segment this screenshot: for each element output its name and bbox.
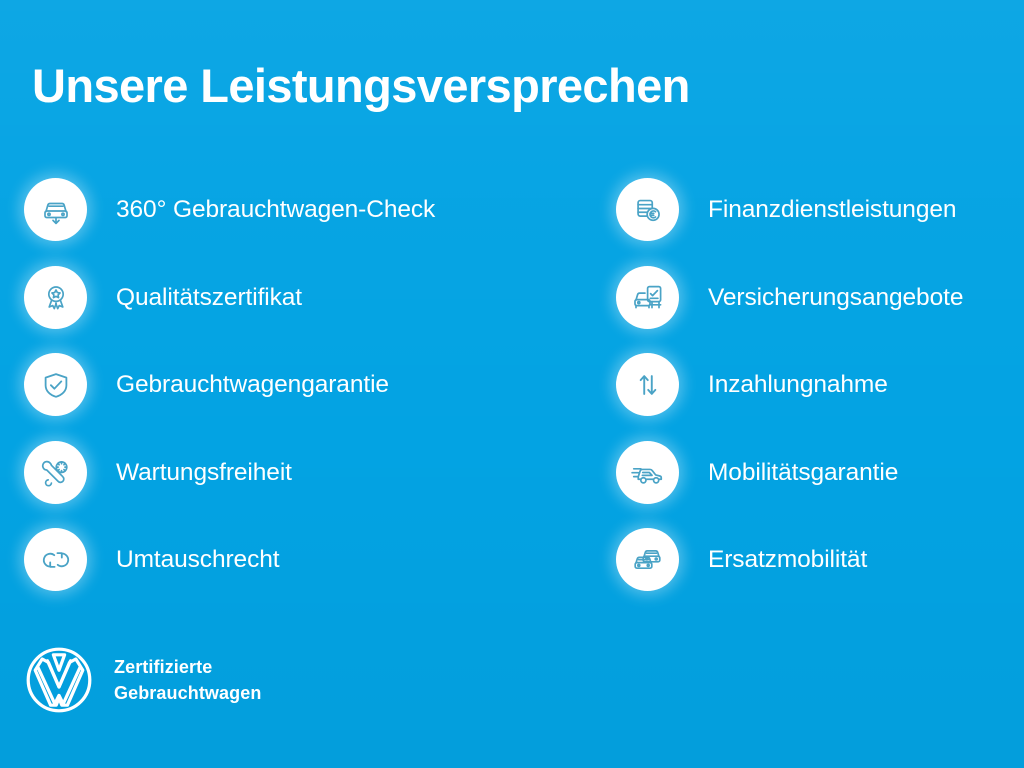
footer-line-2: Gebrauchtwagen	[114, 680, 261, 706]
benefit-label: Versicherungsangebote	[679, 266, 963, 329]
volkswagen-logo	[24, 645, 94, 715]
wrench-gear-icon	[24, 441, 87, 504]
benefit-item-versicherungsangebote[interactable]: Versicherungsangebote	[616, 266, 1016, 354]
arrows-up-down-icon	[616, 353, 679, 416]
footer-text: Zertifizierte Gebrauchtwagen	[94, 654, 261, 706]
benefit-label: Umtauschrecht	[87, 528, 279, 591]
slide-background: Unsere Leistungsversprechen 360° Gebrauc…	[0, 0, 1024, 768]
benefits-column-right: Finanzdienstleistungen Versicherungsange…	[616, 178, 1016, 616]
page-title: Unsere Leistungsversprechen	[32, 58, 690, 113]
exchange-arrows-icon	[24, 528, 87, 591]
shield-check-icon	[24, 353, 87, 416]
coins-euro-icon	[616, 178, 679, 241]
footer-brand: Zertifizierte Gebrauchtwagen	[24, 645, 261, 715]
award-rosette-icon	[24, 266, 87, 329]
benefit-item-umtauschrecht[interactable]: Umtauschrecht	[24, 528, 584, 616]
footer-line-1: Zertifizierte	[114, 654, 261, 680]
benefit-label: Gebrauchtwagengarantie	[87, 353, 389, 416]
benefit-label: Qualitätszertifikat	[87, 266, 302, 329]
benefit-item-mobilitaetsgarantie[interactable]: Mobilitätsgarantie	[616, 441, 1016, 529]
benefit-label: Wartungsfreiheit	[87, 441, 292, 504]
benefit-item-finanzdienstleistungen[interactable]: Finanzdienstleistungen	[616, 178, 1016, 266]
benefit-item-ersatzmobilitaet[interactable]: Ersatzmobilität	[616, 528, 1016, 616]
benefit-item-wartungsfreiheit[interactable]: Wartungsfreiheit	[24, 441, 584, 529]
benefit-label: Finanzdienstleistungen	[679, 178, 956, 241]
car-motion-icon	[616, 441, 679, 504]
benefit-label: Mobilitätsgarantie	[679, 441, 898, 504]
benefits-column-left: 360° Gebrauchtwagen-Check Qualitätszerti…	[24, 178, 584, 616]
benefit-item-inzahlungnahme[interactable]: Inzahlungnahme	[616, 353, 1016, 441]
benefit-label: Inzahlungnahme	[679, 353, 888, 416]
benefit-item-gebrauchtwagengarantie[interactable]: Gebrauchtwagengarantie	[24, 353, 584, 441]
benefit-label: Ersatzmobilität	[679, 528, 867, 591]
car-front-check-icon	[24, 178, 87, 241]
car-document-check-icon	[616, 266, 679, 329]
two-cars-icon	[616, 528, 679, 591]
benefit-label: 360° Gebrauchtwagen-Check	[87, 178, 435, 241]
benefit-item-gebrauchtwagen-check[interactable]: 360° Gebrauchtwagen-Check	[24, 178, 584, 266]
benefit-item-qualitaetszertifikat[interactable]: Qualitätszertifikat	[24, 266, 584, 354]
